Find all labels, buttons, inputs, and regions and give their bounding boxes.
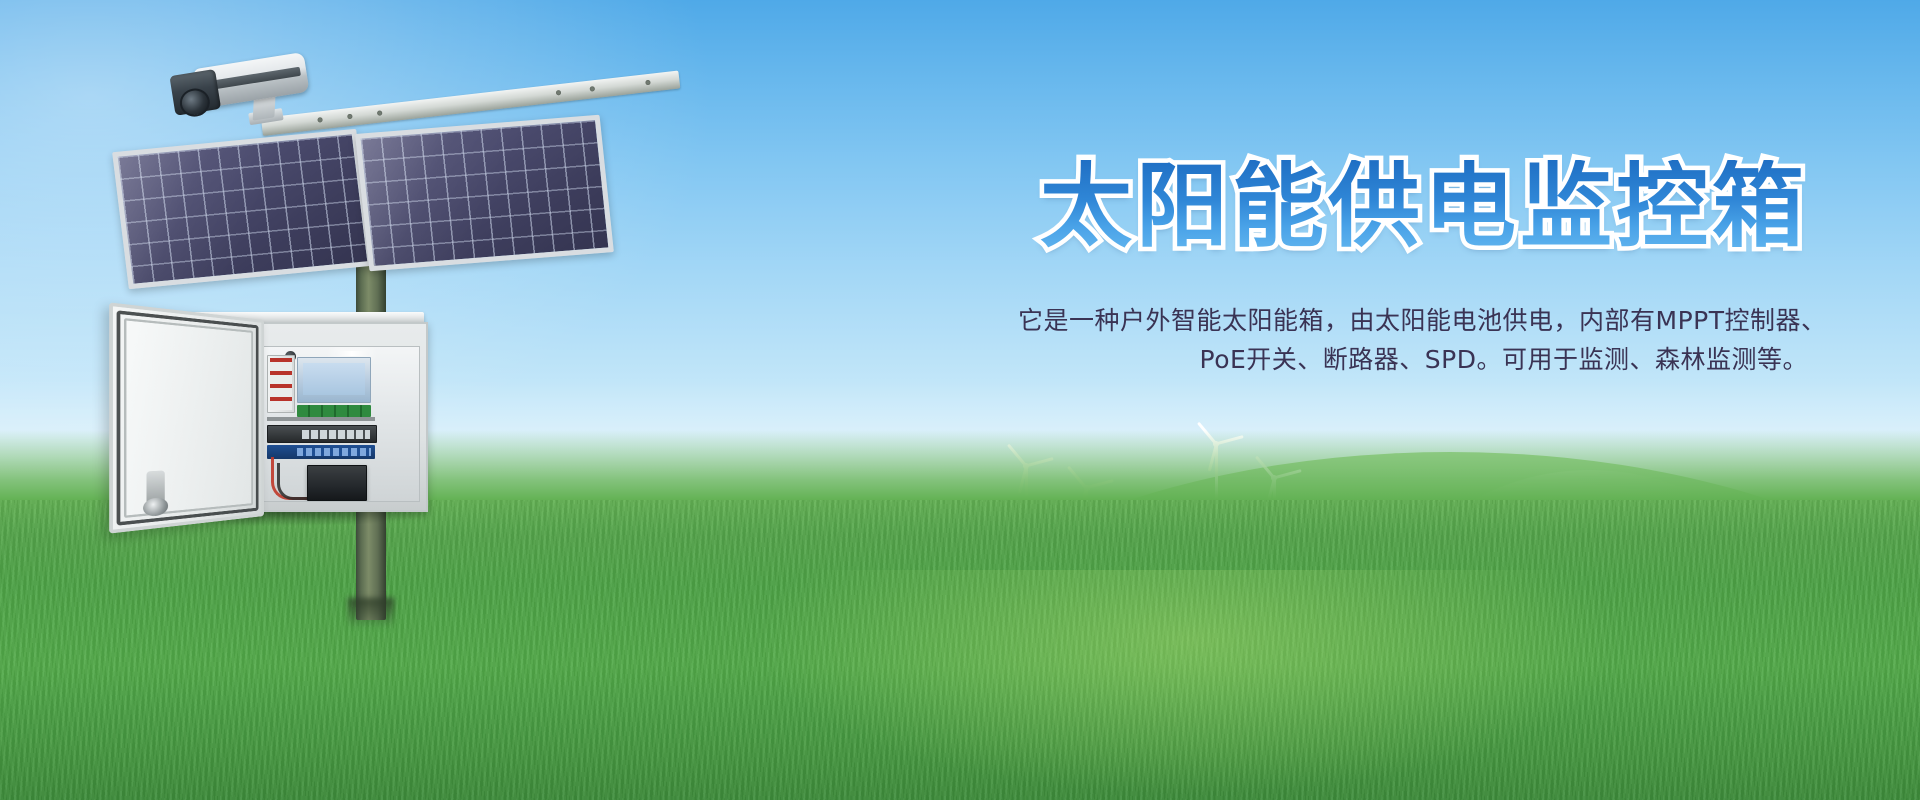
solar-panel-right bbox=[355, 115, 614, 271]
poe-switch bbox=[267, 425, 377, 443]
page-title: 太阳能供电监控箱 太阳能供电监控箱 bbox=[1040, 160, 1808, 254]
mppt-controller bbox=[297, 357, 371, 403]
circuit-breakers bbox=[267, 355, 295, 413]
cabinet-door-lock[interactable] bbox=[147, 470, 165, 505]
page-title-text: 太阳能供电监控箱 bbox=[1040, 160, 1808, 254]
pole-base-shadow bbox=[348, 598, 394, 628]
rail-bolt bbox=[377, 110, 383, 116]
cabinet-body bbox=[254, 322, 428, 512]
rail-bolt bbox=[645, 80, 651, 86]
banner-text-block: 太阳能供电监控箱 太阳能供电监控箱 它是一种户外智能太阳能箱，由太阳能电池供电，… bbox=[1018, 160, 1808, 379]
rail-bolt bbox=[317, 117, 323, 123]
solar-power-monitoring-cabinet bbox=[118, 312, 428, 517]
door-inner-panel bbox=[124, 318, 253, 518]
banner-description: 它是一种户外智能太阳能箱，由太阳能电池供电，内部有MPPT控制器、 PoE开关、… bbox=[1018, 302, 1808, 380]
camera-sun-hood bbox=[169, 69, 221, 116]
grass-sunlight bbox=[740, 570, 1640, 800]
terminal-blocks bbox=[297, 405, 371, 417]
battery bbox=[307, 465, 367, 501]
rail-bolt bbox=[590, 86, 596, 92]
rail-bolt bbox=[347, 114, 353, 120]
led-lamp bbox=[335, 351, 369, 356]
description-line-2: PoE开关、断路器、SPD。可用于监测、森林监测等。 bbox=[1018, 341, 1808, 380]
rail-bolt bbox=[556, 90, 562, 96]
cabinet-door[interactable] bbox=[109, 302, 264, 533]
din-rail bbox=[267, 417, 375, 421]
camera-lens-icon bbox=[178, 86, 212, 118]
description-line-1: 它是一种户外智能太阳能箱，由太阳能电池供电，内部有MPPT控制器、 bbox=[1018, 302, 1808, 341]
solar-monitoring-cabinet-banner: 太阳能供电监控箱 太阳能供电监控箱 它是一种户外智能太阳能箱，由太阳能电池供电，… bbox=[0, 0, 1920, 800]
cabinet-interior bbox=[262, 346, 420, 502]
solar-panel-left bbox=[112, 129, 373, 289]
